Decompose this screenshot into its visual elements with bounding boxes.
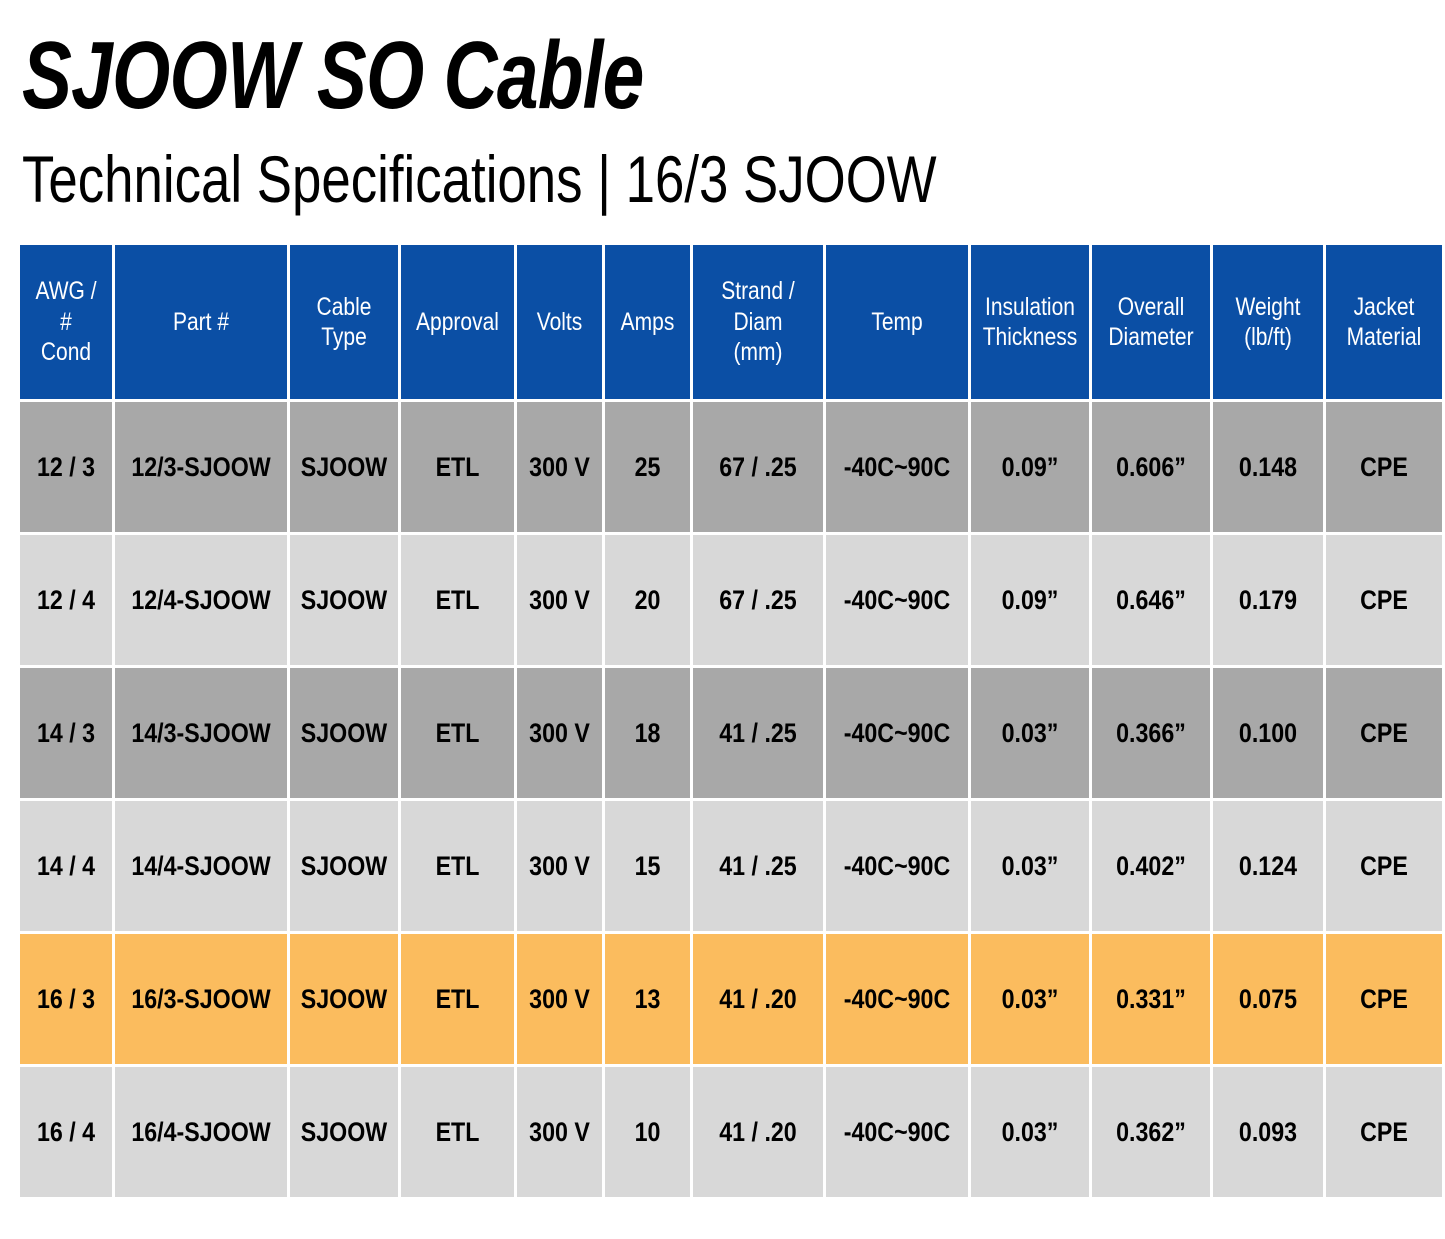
column-header-label: AWG / # Cond xyxy=(29,276,103,368)
table-cell-value: 0.366” xyxy=(1102,718,1200,749)
table-cell-value: 67 / .25 xyxy=(704,452,812,483)
table-cell: 41 / .20 xyxy=(693,1067,823,1197)
table-cell: 0.606” xyxy=(1092,402,1210,532)
table-cell: 16/4-SJOOW xyxy=(115,1067,287,1197)
table-cell: SJOOW xyxy=(290,668,398,798)
table-cell: 0.124 xyxy=(1213,801,1323,931)
table-cell: 0.075 xyxy=(1213,934,1323,1064)
column-header-label: Approval xyxy=(412,307,504,338)
table-cell: CPE xyxy=(1326,402,1442,532)
table-cell: SJOOW xyxy=(290,402,398,532)
table-cell: 0.366” xyxy=(1092,668,1210,798)
table-cell-value: 16/4-SJOOW xyxy=(129,1117,273,1148)
table-cell-value: 14/3-SJOOW xyxy=(129,718,273,749)
table-cell-value: 300 V xyxy=(525,452,595,483)
table-cell: 41 / .20 xyxy=(693,934,823,1064)
table-cell: 41 / .25 xyxy=(693,668,823,798)
table-cell-value: 0.09” xyxy=(981,452,1079,483)
table-cell: 0.100 xyxy=(1213,668,1323,798)
table-cell-value: 300 V xyxy=(525,851,595,882)
table-cell: 25 xyxy=(605,402,690,532)
table-cell-value: 12 / 4 xyxy=(28,585,104,616)
table-cell: 14/4-SJOOW xyxy=(115,801,287,931)
column-header-label: Volts xyxy=(525,307,593,338)
column-header-11: Jacket Material xyxy=(1326,245,1442,399)
table-cell: -40C~90C xyxy=(826,801,968,931)
table-cell: 0.331” xyxy=(1092,934,1210,1064)
column-header-label: Cable Type xyxy=(300,292,387,353)
table-cell: 0.093 xyxy=(1213,1067,1323,1197)
table-cell-value: 16/3-SJOOW xyxy=(129,984,273,1015)
table-cell-value: 14 / 4 xyxy=(28,851,104,882)
column-header-0: AWG / # Cond xyxy=(20,245,112,399)
table-cell: 300 V xyxy=(517,402,602,532)
table-cell: SJOOW xyxy=(290,535,398,665)
table-cell: 18 xyxy=(605,668,690,798)
column-header-label: Insulation Thickness xyxy=(982,292,1078,353)
column-header-9: Overall Diameter xyxy=(1092,245,1210,399)
table-cell-value: CPE xyxy=(1336,1117,1432,1148)
table-cell: CPE xyxy=(1326,668,1442,798)
column-header-6: Strand / Diam (mm) xyxy=(693,245,823,399)
table-cell: 0.362” xyxy=(1092,1067,1210,1197)
table-cell: 300 V xyxy=(517,668,602,798)
table-cell-value: SJOOW xyxy=(299,585,388,616)
page-title: SJOOW SO Cable xyxy=(22,0,1132,124)
table-cell-value: 41 / .20 xyxy=(704,984,812,1015)
table-cell-value: 14/4-SJOOW xyxy=(129,851,273,882)
column-header-10: Weight (lb/ft) xyxy=(1213,245,1323,399)
table-cell: CPE xyxy=(1326,535,1442,665)
table-header: AWG / # CondPart #Cable TypeApprovalVolt… xyxy=(20,245,1442,399)
table-cell-value: 300 V xyxy=(525,1117,595,1148)
table-cell-value: 0.093 xyxy=(1222,1117,1313,1148)
table-cell-value: 0.646” xyxy=(1102,585,1200,616)
table-cell-value: ETL xyxy=(411,452,505,483)
table-cell: 20 xyxy=(605,535,690,665)
table-row[interactable]: 12 / 312/3-SJOOWSJOOWETL300 V2567 / .25-… xyxy=(20,402,1442,532)
table-cell: 12 / 4 xyxy=(20,535,112,665)
table-cell-value: 12/3-SJOOW xyxy=(129,452,273,483)
table-cell-value: ETL xyxy=(411,718,505,749)
table-cell: SJOOW xyxy=(290,1067,398,1197)
table-cell: 300 V xyxy=(517,535,602,665)
table-cell-value: -40C~90C xyxy=(838,718,957,749)
table-cell: SJOOW xyxy=(290,801,398,931)
table-cell: 0.646” xyxy=(1092,535,1210,665)
table-cell-value: 16 / 3 xyxy=(28,984,104,1015)
table-cell-value: -40C~90C xyxy=(838,452,957,483)
column-header-7: Temp xyxy=(826,245,968,399)
table-cell: 0.148 xyxy=(1213,402,1323,532)
table-cell: 300 V xyxy=(517,934,602,1064)
table-cell: 12/4-SJOOW xyxy=(115,535,287,665)
table-cell: CPE xyxy=(1326,1067,1442,1197)
table-cell-value: 0.179 xyxy=(1222,585,1313,616)
table-cell: 67 / .25 xyxy=(693,535,823,665)
table-cell-value: ETL xyxy=(411,851,505,882)
table-cell: 14/3-SJOOW xyxy=(115,668,287,798)
column-header-8: Insulation Thickness xyxy=(971,245,1089,399)
table-cell-value: SJOOW xyxy=(299,851,388,882)
table-cell-value: 0.03” xyxy=(981,851,1079,882)
table-cell-value: CPE xyxy=(1336,984,1432,1015)
table-cell-value: 14 / 3 xyxy=(28,718,104,749)
table-cell: -40C~90C xyxy=(826,934,968,1064)
table-cell: 0.09” xyxy=(971,402,1089,532)
table-row[interactable]: 14 / 414/4-SJOOWSJOOWETL300 V1541 / .25-… xyxy=(20,801,1442,931)
table-cell-value: SJOOW xyxy=(299,984,388,1015)
table-cell-value: SJOOW xyxy=(299,1117,388,1148)
table-cell-value: 16 / 4 xyxy=(28,1117,104,1148)
table-cell-value: SJOOW xyxy=(299,718,388,749)
table-cell-value: 0.606” xyxy=(1102,452,1200,483)
spec-table-container: AWG / # CondPart #Cable TypeApprovalVolt… xyxy=(20,245,1425,1197)
table-cell: 16/3-SJOOW xyxy=(115,934,287,1064)
table-cell-value: 300 V xyxy=(525,984,595,1015)
column-header-1: Part # xyxy=(115,245,287,399)
table-header-row: AWG / # CondPart #Cable TypeApprovalVolt… xyxy=(20,245,1442,399)
table-cell: 0.03” xyxy=(971,934,1089,1064)
table-cell-value: ETL xyxy=(411,585,505,616)
column-header-3: Approval xyxy=(401,245,514,399)
table-cell: 300 V xyxy=(517,801,602,931)
table-cell: 0.03” xyxy=(971,1067,1089,1197)
table-cell-value: 0.124 xyxy=(1222,851,1313,882)
table-row[interactable]: 16 / 416/4-SJOOWSJOOWETL300 V1041 / .20-… xyxy=(20,1067,1442,1197)
table-cell: ETL xyxy=(401,801,514,931)
table-cell: -40C~90C xyxy=(826,535,968,665)
table-cell-value: CPE xyxy=(1336,585,1432,616)
table-cell-value: 0.09” xyxy=(981,585,1079,616)
table-cell: 0.179 xyxy=(1213,535,1323,665)
table-cell: 14 / 3 xyxy=(20,668,112,798)
table-cell: 0.402” xyxy=(1092,801,1210,931)
table-cell-value: 20 xyxy=(613,585,683,616)
table-cell-value: -40C~90C xyxy=(838,851,957,882)
table-cell-value: 0.100 xyxy=(1222,718,1313,749)
column-header-4: Volts xyxy=(517,245,602,399)
table-cell: 12/3-SJOOW xyxy=(115,402,287,532)
table-row[interactable]: 12 / 412/4-SJOOWSJOOWETL300 V2067 / .25-… xyxy=(20,535,1442,665)
table-cell: 10 xyxy=(605,1067,690,1197)
table-cell-value: 0.362” xyxy=(1102,1117,1200,1148)
table-cell-value: 41 / .25 xyxy=(704,851,812,882)
table-cell-value: 12/4-SJOOW xyxy=(129,585,273,616)
spec-sheet-page: SJOOW SO Cable Technical Specifications … xyxy=(0,0,1445,1239)
column-header-label: Part # xyxy=(130,307,271,338)
table-cell: ETL xyxy=(401,1067,514,1197)
table-cell-value: ETL xyxy=(411,1117,505,1148)
table-cell-value: CPE xyxy=(1336,452,1432,483)
table-cell-value: 13 xyxy=(613,984,683,1015)
table-cell-value: 300 V xyxy=(525,585,595,616)
table-cell: ETL xyxy=(401,402,514,532)
table-cell-value: SJOOW xyxy=(299,452,388,483)
table-cell: 14 / 4 xyxy=(20,801,112,931)
table-cell: -40C~90C xyxy=(826,402,968,532)
table-cell-value: CPE xyxy=(1336,718,1432,749)
column-header-label: Amps xyxy=(613,307,681,338)
table-cell: 12 / 3 xyxy=(20,402,112,532)
page-subtitle: Technical Specifications | 16/3 SJOOW xyxy=(22,124,1160,212)
table-cell-value: 25 xyxy=(613,452,683,483)
table-cell-value: 300 V xyxy=(525,718,595,749)
table-cell-value: 67 / .25 xyxy=(704,585,812,616)
title-block: SJOOW SO Cable Technical Specifications … xyxy=(0,0,1445,212)
table-row[interactable]: 14 / 314/3-SJOOWSJOOWETL300 V1841 / .25-… xyxy=(20,668,1442,798)
table-cell-value: ETL xyxy=(411,984,505,1015)
table-cell: 13 xyxy=(605,934,690,1064)
table-cell-value: 0.03” xyxy=(981,1117,1079,1148)
table-cell-value: 12 / 3 xyxy=(28,452,104,483)
table-cell-value: 0.402” xyxy=(1102,851,1200,882)
table-body: 12 / 312/3-SJOOWSJOOWETL300 V2567 / .25-… xyxy=(20,402,1442,1197)
table-cell-value: 0.075 xyxy=(1222,984,1313,1015)
table-cell-value: 0.331” xyxy=(1102,984,1200,1015)
table-cell-value: 18 xyxy=(613,718,683,749)
table-cell-value: 0.03” xyxy=(981,718,1079,749)
table-cell: 0.03” xyxy=(971,668,1089,798)
table-cell-value: 15 xyxy=(613,851,683,882)
column-header-label: Temp xyxy=(839,307,955,338)
specifications-table: AWG / # CondPart #Cable TypeApprovalVolt… xyxy=(17,242,1445,1200)
table-cell-value: 41 / .25 xyxy=(704,718,812,749)
table-cell: 67 / .25 xyxy=(693,402,823,532)
table-cell: CPE xyxy=(1326,801,1442,931)
table-cell: 16 / 4 xyxy=(20,1067,112,1197)
table-cell: 300 V xyxy=(517,1067,602,1197)
column-header-label: Overall Diameter xyxy=(1103,292,1199,353)
table-cell: SJOOW xyxy=(290,934,398,1064)
column-header-2: Cable Type xyxy=(290,245,398,399)
table-cell-value: -40C~90C xyxy=(838,585,957,616)
column-header-label: Weight (lb/ft) xyxy=(1223,292,1312,353)
table-cell: ETL xyxy=(401,535,514,665)
table-cell: 15 xyxy=(605,801,690,931)
table-cell: 0.03” xyxy=(971,801,1089,931)
table-cell: 0.09” xyxy=(971,535,1089,665)
table-cell-value: -40C~90C xyxy=(838,984,957,1015)
table-cell-value: 10 xyxy=(613,1117,683,1148)
column-header-label: Jacket Material xyxy=(1337,292,1431,353)
table-row[interactable]: 16 / 316/3-SJOOWSJOOWETL300 V1341 / .20-… xyxy=(20,934,1442,1064)
table-cell-value: 41 / .20 xyxy=(704,1117,812,1148)
column-header-5: Amps xyxy=(605,245,690,399)
table-cell-value: -40C~90C xyxy=(838,1117,957,1148)
table-cell-value: CPE xyxy=(1336,851,1432,882)
table-cell: CPE xyxy=(1326,934,1442,1064)
table-cell: 41 / .25 xyxy=(693,801,823,931)
table-cell: -40C~90C xyxy=(826,1067,968,1197)
table-cell: -40C~90C xyxy=(826,668,968,798)
table-cell: ETL xyxy=(401,668,514,798)
table-cell: ETL xyxy=(401,934,514,1064)
table-cell-value: 0.03” xyxy=(981,984,1079,1015)
table-cell-value: 0.148 xyxy=(1222,452,1313,483)
column-header-label: Strand / Diam (mm) xyxy=(705,276,811,368)
table-cell: 16 / 3 xyxy=(20,934,112,1064)
